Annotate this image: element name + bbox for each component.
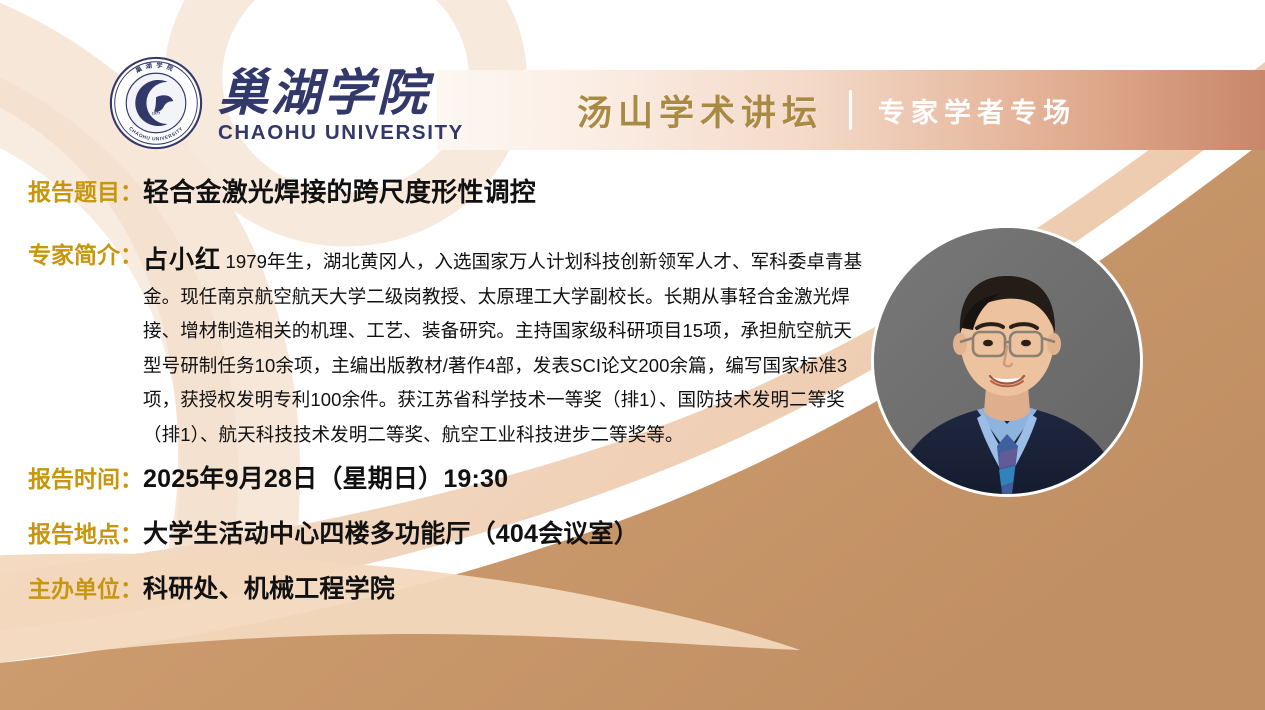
label-place: 报告地点： <box>28 519 143 550</box>
university-name-en: CHAOHU UNIVERSITY <box>218 121 464 145</box>
label-topic: 报告题目： <box>28 177 143 208</box>
speaker-name: 占小红 <box>143 246 221 274</box>
biography-text: 1979年生，湖北黄冈人，入选国家万人计划科技创新领军人才、军科委卓青基金。现任… <box>143 251 862 445</box>
row-biography: 专家简介： 占小红 1979年生，湖北黄冈人，入选国家万人计划科技创新领军人才、… <box>28 240 869 452</box>
value-topic: 轻合金激光焊接的跨尺度形性调控 <box>143 176 536 210</box>
biography-body: 占小红 1979年生，湖北黄冈人，入选国家万人计划科技创新领军人才、军科委卓青基… <box>143 240 869 452</box>
label-host: 主办单位： <box>28 574 143 605</box>
value-place: 大学生活动中心四楼多功能厅（404会议室） <box>143 518 639 551</box>
label-time: 报告时间： <box>28 464 143 495</box>
row-place: 报告地点： 大学生活动中心四楼多功能厅（404会议室） <box>28 518 639 551</box>
row-host: 主办单位： 科研处、机械工程学院 <box>28 573 395 606</box>
university-wordmark: 巢湖学院 CHAOHU UNIVERSITY <box>218 67 464 146</box>
value-host: 科研处、机械工程学院 <box>143 573 395 606</box>
value-time: 2025年9月28日（星期日）19:30 <box>143 463 508 496</box>
svg-text:1977: 1977 <box>152 112 161 116</box>
poster-canvas: 汤山学术讲坛 专家学者专场 CHAOHU UNIVERSITY <box>0 0 1265 710</box>
speaker-portrait <box>874 228 1140 494</box>
row-time: 报告时间： 2025年9月28日（星期日）19:30 <box>28 463 508 496</box>
speaker-portrait-image <box>874 228 1140 494</box>
label-biography: 专家简介： <box>28 240 143 271</box>
banner-title: 汤山学术讲坛 <box>577 85 823 136</box>
university-logo: CHAOHU UNIVERSITY 巢湖学院 1977 巢湖学院 CHAOHU … <box>108 55 464 151</box>
banner-divider <box>849 90 852 130</box>
banner-subtitle: 专家学者专场 <box>878 91 1076 130</box>
university-name-cn: 巢湖学院 <box>218 67 464 120</box>
header-banner: 汤山学术讲坛 专家学者专场 <box>437 70 1265 150</box>
university-seal-icon: CHAOHU UNIVERSITY 巢湖学院 1977 <box>108 55 204 151</box>
row-topic: 报告题目： 轻合金激光焊接的跨尺度形性调控 <box>28 176 536 210</box>
